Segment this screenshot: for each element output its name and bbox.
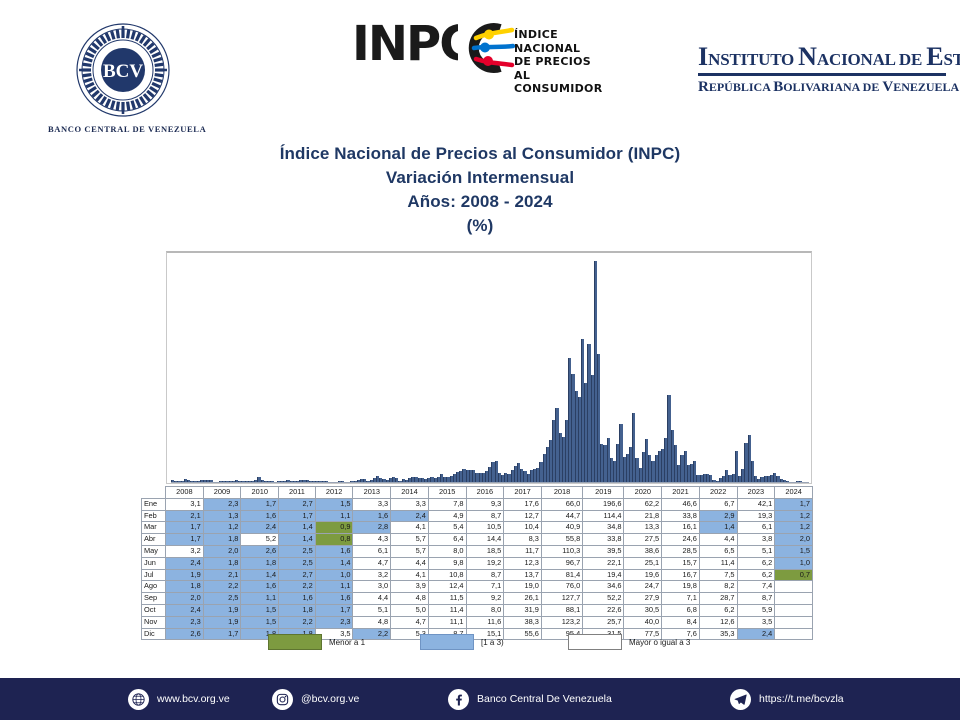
table-cell-Sep-2024: [775, 593, 813, 605]
table-cell-Jul-2012: 1,0: [315, 569, 353, 581]
table-cell-Abr-2018: 55,8: [541, 534, 582, 546]
table-cell-Nov-2019: 25,7: [583, 616, 624, 628]
table-cell-Abr-2021: 24,6: [662, 534, 700, 546]
table-cell-May-2014: 5,7: [391, 545, 429, 557]
table-col-header-2008: 2008: [166, 487, 204, 499]
table-cell-May-2012: 1,6: [315, 545, 353, 557]
inpc-bar-chart: [166, 251, 812, 484]
table-cell-Abr-2019: 33,8: [583, 534, 624, 546]
table-cell-Ene-2012: 1,5: [315, 498, 353, 510]
ine-sub-p2: B: [773, 79, 783, 95]
table-cell-Ene-2023: 42,1: [737, 498, 775, 510]
chart-plot-area: [171, 255, 809, 483]
table-col-header-2012: 2012: [315, 487, 353, 499]
table-cell-Jul-2010: 1,4: [241, 569, 279, 581]
table-row-label-Oct: Oct: [142, 604, 166, 616]
legend-swatch-icon: [268, 634, 322, 650]
table-cell-May-2015: 8,0: [428, 545, 466, 557]
table-cell-Jun-2009: 1,8: [203, 557, 241, 569]
table-cell-Sep-2022: 28,7: [699, 593, 737, 605]
table-cell-Jul-2017: 13,7: [504, 569, 542, 581]
table-cell-Oct-2024: [775, 604, 813, 616]
table-cell-Abr-2008: 1,7: [166, 534, 204, 546]
facebook-icon[interactable]: [448, 689, 469, 710]
table-cell-Ene-2019: 196,6: [583, 498, 624, 510]
table-cell-Jun-2013: 4,7: [353, 557, 391, 569]
table-cell-May-2011: 2,5: [279, 545, 316, 557]
table-cell-Jul-2011: 2,7: [279, 569, 316, 581]
table-cell-Nov-2023: 3,5: [737, 616, 775, 628]
table-cell-Sep-2020: 27,9: [624, 593, 662, 605]
table-row: Mar1,71,22,41,40,92,84,15,410,510,440,93…: [142, 522, 813, 534]
table-cell-Jul-2015: 10,8: [428, 569, 466, 581]
table-cell-Abr-2024: 2,0: [775, 534, 813, 546]
table-col-header-2015: 2015: [428, 487, 466, 499]
table-cell-Jun-2024: 1,0: [775, 557, 813, 569]
table-cell-Ago-2016: 7,1: [466, 581, 504, 593]
table-col-header-2019: 2019: [583, 487, 624, 499]
table-row: Sep2,02,51,11,61,64,44,811,59,226,1127,7…: [142, 593, 813, 605]
table-cell-Ene-2011: 2,7: [279, 498, 316, 510]
table-cell-Sep-2021: 7,1: [662, 593, 700, 605]
table-cell-May-2020: 38,6: [624, 545, 662, 557]
table-cell-May-2024: 1,5: [775, 545, 813, 557]
table-cell-Sep-2019: 52,2: [583, 593, 624, 605]
table-cell-Feb-2016: 8,7: [466, 510, 504, 522]
bcv-logo: BCV BANCO CENTRAL DE VENEZUELA: [48, 22, 198, 134]
footer-item-facebook[interactable]: Banco Central De Venezuela: [448, 689, 612, 710]
chart-x-axis: [171, 482, 809, 483]
table-cell-Jun-2011: 2,5: [279, 557, 316, 569]
table-header-row: 2008200920102011201220132014201520162017…: [142, 487, 813, 499]
table-cell-Oct-2015: 11,4: [428, 604, 466, 616]
legend-label: Mayor o igual a 3: [629, 638, 690, 647]
bcv-caption: BANCO CENTRAL DE VENEZUELA: [48, 124, 198, 134]
table-cell-Dic-2023: 2,4: [737, 628, 775, 640]
table-cell-Feb-2014: 2,4: [391, 510, 429, 522]
table-row-label-May: May: [142, 545, 166, 557]
table-cell-Jun-2020: 25,1: [624, 557, 662, 569]
table-cell-Ene-2020: 62,2: [624, 498, 662, 510]
table-cell-Nov-2009: 1,9: [203, 616, 241, 628]
table-col-header-2010: 2010: [241, 487, 279, 499]
inpc-logo: INPC ÍNDICE NACIONAL DE PRECIOS AL CONSU…: [352, 16, 612, 90]
table-cell-Jun-2021: 15,7: [662, 557, 700, 569]
table-col-header-2018: 2018: [541, 487, 582, 499]
footer-link-text[interactable]: www.bcv.org.ve: [157, 693, 230, 705]
table-cell-Nov-2014: 4,7: [391, 616, 429, 628]
table-cell-Sep-2017: 26,1: [504, 593, 542, 605]
table-cell-Abr-2017: 8,3: [504, 534, 542, 546]
table-cell-Jun-2016: 19,2: [466, 557, 504, 569]
table-cell-Oct-2016: 8,0: [466, 604, 504, 616]
page-header: BCV BANCO CENTRAL DE VENEZUELA INPC ÍN: [0, 0, 960, 130]
table-row-label-Ago: Ago: [142, 581, 166, 593]
table-cell-Jul-2009: 2,1: [203, 569, 241, 581]
ine-sub-p3: OLIVARIANA DE: [783, 80, 882, 94]
table-cell-Abr-2016: 14,4: [466, 534, 504, 546]
chart-legend: Menor a 1[1 a 3)Mayor o igual a 3: [268, 634, 698, 656]
table-cell-Feb-2012: 1,1: [315, 510, 353, 522]
table-cell-Sep-2013: 4,4: [353, 593, 391, 605]
legend-item-green: Menor a 1: [268, 634, 365, 650]
legend-swatch-icon: [568, 634, 622, 650]
table-cell-Mar-2022: 1,4: [699, 522, 737, 534]
table-row-label-Abr: Abr: [142, 534, 166, 546]
table-cell-Mar-2011: 1,4: [279, 522, 316, 534]
table-col-header-2023: 2023: [737, 487, 775, 499]
table-cell-Abr-2023: 3,8: [737, 534, 775, 546]
table-row: Ene3,12,31,72,71,53,33,37,89,317,666,019…: [142, 498, 813, 510]
table-cell-Mar-2008: 1,7: [166, 522, 204, 534]
table-cell-Oct-2011: 1,8: [279, 604, 316, 616]
table-cell-Oct-2023: 5,9: [737, 604, 775, 616]
table-cell-Oct-2018: 88,1: [541, 604, 582, 616]
title-line-1: Índice Nacional de Precios al Consumidor…: [0, 142, 960, 166]
table-row-label-Jun: Jun: [142, 557, 166, 569]
table-cell-Ene-2022: 6,7: [699, 498, 737, 510]
table-cell-Feb-2022: 2,9: [699, 510, 737, 522]
table-cell-Mar-2012: 0,9: [315, 522, 353, 534]
table-cell-Oct-2013: 5,1: [353, 604, 391, 616]
table-cell-Jun-2012: 1,4: [315, 557, 353, 569]
table-cell-Nov-2008: 2,3: [166, 616, 204, 628]
table-col-header-2020: 2020: [624, 487, 662, 499]
ine-sub-p5: ENEZUELA: [893, 80, 959, 94]
table-cell-Ago-2018: 76,0: [541, 581, 582, 593]
table-cell-May-2018: 110,3: [541, 545, 582, 557]
table-row-label-Nov: Nov: [142, 616, 166, 628]
table-cell-Sep-2023: 8,7: [737, 593, 775, 605]
table-cell-May-2021: 28,5: [662, 545, 700, 557]
table-cell-Ago-2015: 12,4: [428, 581, 466, 593]
table-row: Jun2,41,81,82,51,44,74,49,819,212,396,72…: [142, 557, 813, 569]
table-cell-Nov-2012: 2,3: [315, 616, 353, 628]
table-cell-Sep-2014: 4,8: [391, 593, 429, 605]
table-cell-Jul-2019: 19,4: [583, 569, 624, 581]
table-cell-Feb-2008: 2,1: [166, 510, 204, 522]
globe-icon[interactable]: [128, 689, 149, 710]
table-cell-Ago-2023: 7,4: [737, 581, 775, 593]
legend-item-white: Mayor o igual a 3: [568, 634, 690, 650]
table-cell-Oct-2022: 6,2: [699, 604, 737, 616]
table-cell-Ago-2010: 1,6: [241, 581, 279, 593]
table-cell-May-2010: 2,6: [241, 545, 279, 557]
table-cell-Jul-2013: 3,2: [353, 569, 391, 581]
table-cell-Dic-2008: 2,6: [166, 628, 204, 640]
table-cell-Ago-2012: 1,1: [315, 581, 353, 593]
table-cell-May-2023: 5,1: [737, 545, 775, 557]
table-col-header-2011: 2011: [279, 487, 316, 499]
ine-title-p4: E: [926, 42, 943, 71]
bcv-seal-icon: BCV: [75, 22, 171, 118]
table-cell-Ago-2011: 2,2: [279, 581, 316, 593]
table-cell-Ene-2013: 3,3: [353, 498, 391, 510]
table-col-header-2024: 2024: [775, 487, 813, 499]
table-cell-Jun-2018: 96,7: [541, 557, 582, 569]
table-cell-May-2016: 18,5: [466, 545, 504, 557]
table-cell-Ago-2021: 19,8: [662, 581, 700, 593]
table-cell-Ene-2014: 3,3: [391, 498, 429, 510]
table-cell-Ene-2015: 7,8: [428, 498, 466, 510]
table-cell-Ago-2022: 8,2: [699, 581, 737, 593]
table-cell-Ago-2020: 24,7: [624, 581, 662, 593]
table-cell-Mar-2021: 16,1: [662, 522, 700, 534]
table-cell-Ene-2008: 3,1: [166, 498, 204, 510]
table-cell-Sep-2016: 9,2: [466, 593, 504, 605]
table-cell-Ene-2010: 1,7: [241, 498, 279, 510]
page-title: Índice Nacional de Precios al Consumidor…: [0, 142, 960, 238]
table-cell-Feb-2015: 4,9: [428, 510, 466, 522]
table-cell-Oct-2009: 1,9: [203, 604, 241, 616]
table-cell-Nov-2021: 8,4: [662, 616, 700, 628]
table-cell-Mar-2023: 6,1: [737, 522, 775, 534]
table-cell-Ene-2016: 9,3: [466, 498, 504, 510]
table-cell-Oct-2014: 5,0: [391, 604, 429, 616]
inpc-subtitle: ÍNDICE NACIONAL DE PRECIOS AL CONSUMIDOR: [514, 28, 612, 96]
title-line-4: (%): [0, 214, 960, 238]
table-cell-Mar-2018: 40,9: [541, 522, 582, 534]
table-row-label-Ene: Ene: [142, 498, 166, 510]
table-row: Oct2,41,91,51,81,75,15,011,48,031,988,12…: [142, 604, 813, 616]
table-body: Ene3,12,31,72,71,53,33,37,89,317,666,019…: [142, 498, 813, 640]
table-cell-Ene-2024: 1,7: [775, 498, 813, 510]
table-cell-Jun-2019: 22,1: [583, 557, 624, 569]
table-col-header-2021: 2021: [662, 487, 700, 499]
table-cell-Nov-2018: 123,2: [541, 616, 582, 628]
telegram-icon[interactable]: [730, 689, 751, 710]
table-cell-Mar-2017: 10,4: [504, 522, 542, 534]
table-cell-Feb-2013: 1,6: [353, 510, 391, 522]
footer-link-text[interactable]: Banco Central De Venezuela: [477, 693, 612, 705]
table-cell-Feb-2021: 33,8: [662, 510, 700, 522]
ine-divider: [698, 73, 946, 76]
table-cell-Jun-2010: 1,8: [241, 557, 279, 569]
table-cell-Jul-2020: 19,6: [624, 569, 662, 581]
table-cell-Nov-2022: 12,6: [699, 616, 737, 628]
table-cell-Ene-2021: 46,6: [662, 498, 700, 510]
table-cell-Oct-2010: 1,5: [241, 604, 279, 616]
table-cell-Nov-2010: 1,5: [241, 616, 279, 628]
table-cell-Nov-2016: 11,6: [466, 616, 504, 628]
table-cell-Oct-2012: 1,7: [315, 604, 353, 616]
table-cell-Ene-2009: 2,3: [203, 498, 241, 510]
table-cell-Sep-2008: 2,0: [166, 593, 204, 605]
bcv-seal-text: BCV: [103, 61, 143, 82]
legend-label: [1 a 3): [481, 638, 504, 647]
table-col-header-2009: 2009: [203, 487, 241, 499]
ine-subtitle: REPÚBLICA BOLIVARIANA DE VENEZUELA: [698, 79, 946, 95]
ine-title-p3: ACIONAL DE: [817, 50, 926, 69]
inpc-wordmark: INPC: [352, 20, 472, 68]
inpc-data-table-wrapper: 2008200920102011201220132014201520162017…: [141, 486, 813, 640]
table-row-label-Feb: Feb: [142, 510, 166, 522]
table-col-header-2017: 2017: [504, 487, 542, 499]
table-cell-Feb-2020: 21,8: [624, 510, 662, 522]
table-cell-Sep-2015: 11,5: [428, 593, 466, 605]
table-cell-Abr-2011: 1,4: [279, 534, 316, 546]
table-row-label-Dic: Dic: [142, 628, 166, 640]
ine-title-p0: I: [698, 42, 708, 71]
table-cell-Jul-2024: 0,7: [775, 569, 813, 581]
footer-item-globe[interactable]: www.bcv.org.ve: [128, 689, 230, 710]
table-cell-Ago-2009: 2,2: [203, 581, 241, 593]
table-cell-May-2009: 2,0: [203, 545, 241, 557]
ine-title-p2: N: [798, 42, 817, 71]
table-row: Feb2,11,31,61,71,11,62,44,98,712,744,711…: [142, 510, 813, 522]
table-row: Jul1,92,11,42,71,03,24,110,88,713,781,41…: [142, 569, 813, 581]
table-cell-Mar-2010: 2,4: [241, 522, 279, 534]
table-cell-Dic-2024: [775, 628, 813, 640]
table-cell-Sep-2018: 127,7: [541, 593, 582, 605]
table-cell-Sep-2010: 1,1: [241, 593, 279, 605]
table-row: Nov2,31,91,52,22,34,84,711,111,638,3123,…: [142, 616, 813, 628]
table-cell-Dic-2009: 1,7: [203, 628, 241, 640]
table-cell-Mar-2015: 5,4: [428, 522, 466, 534]
table-cell-Abr-2022: 4,4: [699, 534, 737, 546]
table-cell-Feb-2009: 1,3: [203, 510, 241, 522]
table-cell-Jul-2008: 1,9: [166, 569, 204, 581]
table-row: May3,22,02,62,51,66,15,78,018,511,7110,3…: [142, 545, 813, 557]
table-cell-Ago-2014: 3,9: [391, 581, 429, 593]
table-col-header-2022: 2022: [699, 487, 737, 499]
table-cell-Abr-2012: 0,8: [315, 534, 353, 546]
table-cell-Abr-2013: 4,3: [353, 534, 391, 546]
table-cell-Ago-2008: 1,8: [166, 581, 204, 593]
table-cell-Jun-2015: 9,8: [428, 557, 466, 569]
table-cell-Mar-2024: 1,2: [775, 522, 813, 534]
table-cell-Ene-2017: 17,6: [504, 498, 542, 510]
table-row: Abr1,71,85,21,40,84,35,76,414,48,355,833…: [142, 534, 813, 546]
table-cell-Jul-2016: 8,7: [466, 569, 504, 581]
title-line-2: Variación Intermensual: [0, 166, 960, 190]
footer-link-text[interactable]: https://t.me/bcvzla: [759, 693, 844, 705]
table-cell-Jul-2018: 81,4: [541, 569, 582, 581]
inpc-data-table: 2008200920102011201220132014201520162017…: [141, 486, 813, 640]
table-cell-Nov-2015: 11,1: [428, 616, 466, 628]
table-cell-Feb-2017: 12,7: [504, 510, 542, 522]
table-cell-Abr-2015: 6,4: [428, 534, 466, 546]
table-cell-Jun-2017: 12,3: [504, 557, 542, 569]
table-cell-May-2019: 39,5: [583, 545, 624, 557]
inpc-mark-icon: [456, 20, 518, 81]
table-cell-Mar-2014: 4,1: [391, 522, 429, 534]
footer-link-text[interactable]: @bcv.org.ve: [301, 693, 359, 705]
table-cell-Feb-2023: 19,3: [737, 510, 775, 522]
table-cell-Jul-2022: 7,5: [699, 569, 737, 581]
table-col-header-2013: 2013: [353, 487, 391, 499]
table-cell-Jun-2014: 4,4: [391, 557, 429, 569]
table-cell-May-2017: 11,7: [504, 545, 542, 557]
table-cell-Nov-2020: 40,0: [624, 616, 662, 628]
ine-title: INSTITUTO NACIONAL DE ESTADÍSTICA: [698, 44, 946, 70]
table-cell-Abr-2009: 1,8: [203, 534, 241, 546]
table-cell-Nov-2013: 4,8: [353, 616, 391, 628]
table-cell-Sep-2012: 1,6: [315, 593, 353, 605]
table-cell-Jun-2008: 2,4: [166, 557, 204, 569]
inpc-subtitle-line1: ÍNDICE NACIONAL: [514, 28, 612, 55]
table-cell-Mar-2009: 1,2: [203, 522, 241, 534]
table-cell-May-2008: 3,2: [166, 545, 204, 557]
table-cell-Jul-2014: 4,1: [391, 569, 429, 581]
ine-sub-p4: V: [882, 79, 893, 95]
table-cell-May-2013: 6,1: [353, 545, 391, 557]
table-cell-Nov-2024: [775, 616, 813, 628]
table-row-label-Jul: Jul: [142, 569, 166, 581]
table-cell-Mar-2016: 10,5: [466, 522, 504, 534]
table-cell-Abr-2020: 27,5: [624, 534, 662, 546]
table-cell-Sep-2009: 2,5: [203, 593, 241, 605]
legend-label: Menor a 1: [329, 638, 365, 647]
table-header: 2008200920102011201220132014201520162017…: [142, 487, 813, 499]
legend-item-blue: [1 a 3): [420, 634, 504, 650]
table-col-header-2014: 2014: [391, 487, 429, 499]
table-cell-Feb-2019: 114,4: [583, 510, 624, 522]
table-cell-Mar-2020: 13,3: [624, 522, 662, 534]
table-row-label-Mar: Mar: [142, 522, 166, 534]
table-row: Ago1,82,21,62,21,13,03,912,47,119,076,03…: [142, 581, 813, 593]
table-cell-Oct-2008: 2,4: [166, 604, 204, 616]
table-cell-Mar-2013: 2,8: [353, 522, 391, 534]
table-cell-Nov-2011: 2,2: [279, 616, 316, 628]
table-cell-Oct-2021: 6,8: [662, 604, 700, 616]
table-cell-Oct-2020: 30,5: [624, 604, 662, 616]
table-cell-Oct-2017: 31,9: [504, 604, 542, 616]
legend-swatch-icon: [420, 634, 474, 650]
table-cell-Ago-2017: 19,0: [504, 581, 542, 593]
footer-item-instagram[interactable]: @bcv.org.ve: [272, 689, 359, 710]
table-cell-Abr-2014: 5,7: [391, 534, 429, 546]
table-cell-Feb-2024: 1,2: [775, 510, 813, 522]
table-cell-Mar-2019: 34,8: [583, 522, 624, 534]
table-cell-Abr-2010: 5,2: [241, 534, 279, 546]
table-cell-Feb-2010: 1,6: [241, 510, 279, 522]
table-cell-Nov-2017: 38,3: [504, 616, 542, 628]
table-cell-May-2022: 6,5: [699, 545, 737, 557]
ine-sub-p1: EPÚBLICA: [709, 80, 773, 94]
table-corner-cell: [142, 487, 166, 499]
table-cell-Sep-2011: 1,6: [279, 593, 316, 605]
ine-logo: INSTITUTO NACIONAL DE ESTADÍSTICA REPÚBL…: [698, 44, 946, 95]
table-cell-Feb-2018: 44,7: [541, 510, 582, 522]
ine-title-p5: STADÍSTICA: [944, 50, 960, 69]
table-cell-Ago-2013: 3,0: [353, 581, 391, 593]
table-cell-Jun-2023: 6,2: [737, 557, 775, 569]
ine-title-p1: NSTITUTO: [708, 50, 798, 69]
title-line-3: Años: 2008 - 2024: [0, 190, 960, 214]
table-cell-Dic-2022: 35,3: [699, 628, 737, 640]
ine-sub-p0: R: [698, 79, 709, 95]
inpc-subtitle-line3: AL CONSUMIDOR: [514, 69, 612, 96]
inpc-subtitle-line2: DE PRECIOS: [514, 55, 612, 69]
table-cell-Ago-2024: [775, 581, 813, 593]
instagram-icon[interactable]: [272, 689, 293, 710]
table-row-label-Sep: Sep: [142, 593, 166, 605]
table-cell-Jul-2023: 6,2: [737, 569, 775, 581]
table-col-header-2016: 2016: [466, 487, 504, 499]
table-cell-Ene-2018: 66,0: [541, 498, 582, 510]
table-cell-Jun-2022: 11,4: [699, 557, 737, 569]
table-cell-Ago-2019: 34,6: [583, 581, 624, 593]
footer-item-telegram[interactable]: https://t.me/bcvzla: [730, 689, 844, 710]
table-cell-Jul-2021: 16,7: [662, 569, 700, 581]
table-cell-Feb-2011: 1,7: [279, 510, 316, 522]
table-cell-Oct-2019: 22,6: [583, 604, 624, 616]
page-footer: www.bcv.org.ve@bcv.org.veBanco Central D…: [0, 678, 960, 720]
